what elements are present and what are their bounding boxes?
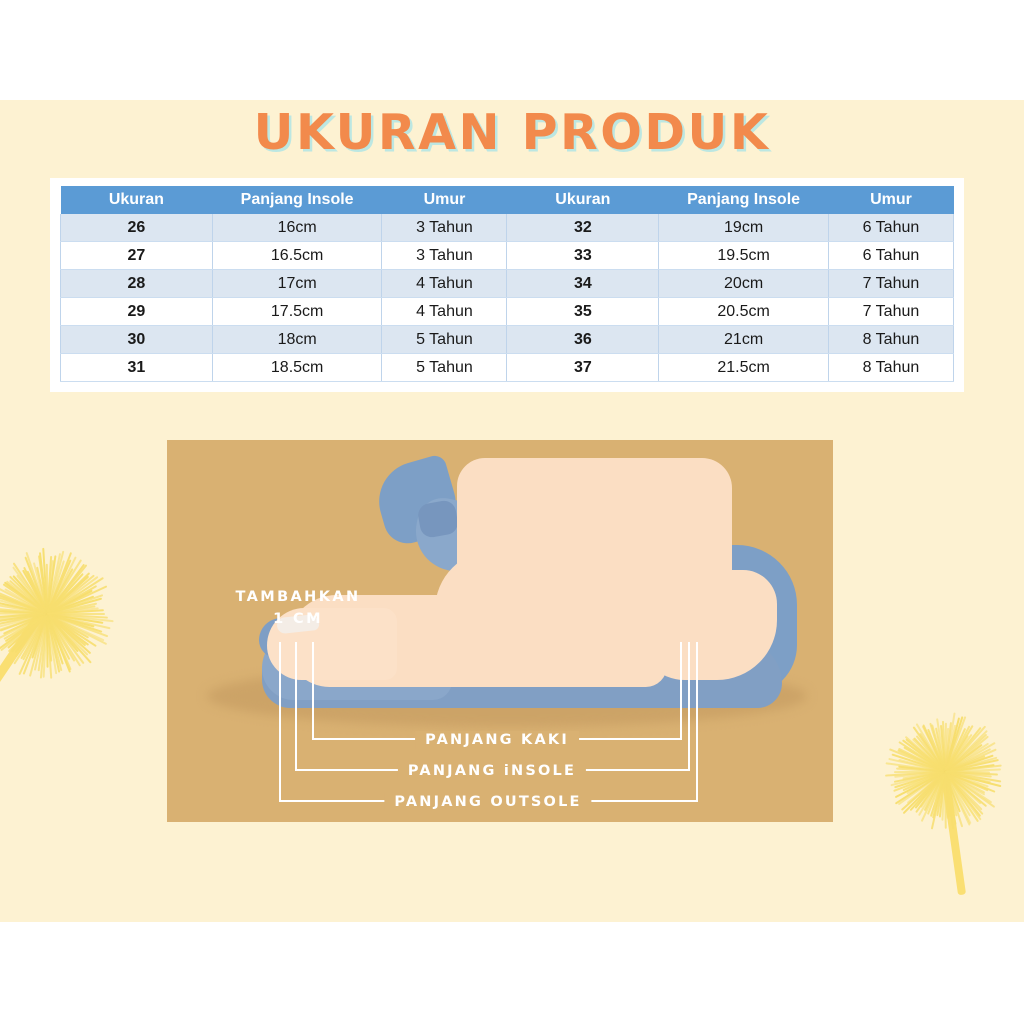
dandelion-ray xyxy=(47,613,108,618)
table-cell: 16.5cm xyxy=(212,242,382,270)
dandelion-ray xyxy=(944,716,966,772)
dandelion-ray xyxy=(0,613,47,622)
dandelion-ray xyxy=(13,575,48,614)
dandelion-ray xyxy=(922,724,946,772)
table-cell: 5 Tahun xyxy=(382,326,507,354)
dandelion-ray xyxy=(24,556,47,614)
dandelion-ray xyxy=(46,561,64,614)
dandelion-ray xyxy=(46,613,81,666)
dandelion-ray xyxy=(20,613,47,659)
dandelion-ray xyxy=(944,771,981,804)
dandelion-ray xyxy=(919,733,946,772)
table-row: 3118.5cm5 Tahun3721.5cm8 Tahun xyxy=(61,354,954,382)
dandelion-ray xyxy=(918,771,945,816)
dandelion-ray xyxy=(929,723,946,772)
dandelion-ray xyxy=(46,564,48,614)
dandelion-ray xyxy=(47,576,99,615)
dandelion-ray xyxy=(47,577,104,614)
dandelion-ray xyxy=(0,602,47,615)
dandelion-ray xyxy=(945,771,992,777)
table-cell: 16cm xyxy=(212,214,382,242)
dandelion-ray xyxy=(46,614,60,673)
dandelion-ray xyxy=(3,584,48,615)
dandelion-ray xyxy=(46,560,53,614)
dandelion-ray xyxy=(5,613,48,642)
page-title: UKURAN PRODUK xyxy=(0,104,1024,161)
dandelion-ray xyxy=(894,771,946,792)
table-cell: 18.5cm xyxy=(212,354,382,382)
dandelion-ray xyxy=(896,768,945,773)
dandelion-ray xyxy=(16,575,47,614)
dandelion-ray xyxy=(944,736,988,773)
dandelion-ray xyxy=(38,614,48,671)
dandelion-ray xyxy=(944,772,956,825)
dandelion-ray xyxy=(23,567,48,614)
dandelion-ray xyxy=(889,749,945,773)
table-cell: 21cm xyxy=(659,326,829,354)
dandelion-ray xyxy=(945,771,1002,782)
table-cell: 19.5cm xyxy=(659,242,829,270)
dandelion-ray xyxy=(940,725,946,772)
dandelion-ray xyxy=(47,594,103,614)
dandelion-ray xyxy=(944,772,963,828)
table-cell: 34 xyxy=(507,270,659,298)
label-tambahkan-1cm: TAMBAHKAN 1 CM xyxy=(208,586,388,630)
table-row: 2917.5cm4 Tahun3520.5cm7 Tahun xyxy=(61,298,954,326)
dandelion-ray xyxy=(944,734,972,773)
dandelion-ray xyxy=(920,771,945,808)
table-row: 2616cm3 Tahun3219cm6 Tahun xyxy=(61,214,954,242)
dandelion-ray xyxy=(47,613,90,638)
dandelion-ray xyxy=(0,588,47,614)
dandelion-ray xyxy=(891,771,945,786)
dandelion-ray xyxy=(902,771,945,780)
dandelion-ray xyxy=(885,771,945,777)
table-cell: 17.5cm xyxy=(212,298,382,326)
dandelion-ray xyxy=(47,596,94,615)
dandelion-ray xyxy=(944,771,979,822)
dandelion-ray xyxy=(944,771,971,816)
dandelion-ray xyxy=(895,771,946,788)
dandelion-ray xyxy=(937,772,946,816)
dandelion-ray xyxy=(944,723,946,772)
dandelion-ray xyxy=(47,605,96,614)
dandelion-ray xyxy=(0,613,47,651)
dandelion-ray xyxy=(942,772,946,821)
dandelion-ray xyxy=(893,771,945,783)
dandelion-ray xyxy=(944,728,949,772)
dandelion-ray xyxy=(944,771,982,810)
label-panjang-insole: PANJANG iNSOLE xyxy=(398,762,586,780)
dandelion-ray xyxy=(945,744,983,773)
dandelion-ray xyxy=(895,771,946,798)
dandelion-ray xyxy=(927,728,946,772)
dandelion-ray xyxy=(944,712,955,772)
dandelion-ray xyxy=(944,730,987,772)
dandelion-ray xyxy=(47,590,93,615)
size-table-card: Ukuran Panjang Insole Umur Ukuran Panjan… xyxy=(50,178,964,392)
column-header-panjang-insole-2: Panjang Insole xyxy=(659,186,829,214)
dandelion-ray xyxy=(906,771,945,794)
dandelion-ray xyxy=(8,613,47,652)
dandelion-ray xyxy=(905,739,945,773)
dandelion-ray xyxy=(944,772,950,817)
dandelion-ray xyxy=(46,575,94,615)
table-cell: 37 xyxy=(507,354,659,382)
dandelion-ray xyxy=(3,582,47,615)
table-cell: 8 Tahun xyxy=(828,326,953,354)
dandelion-ray xyxy=(944,771,971,826)
dandelion-ray xyxy=(945,742,996,773)
dandelion-ray xyxy=(944,771,981,817)
dandelion-ray xyxy=(945,755,986,772)
dandelion-ray xyxy=(944,772,954,830)
dandelion-ray xyxy=(0,591,47,615)
table-cell: 27 xyxy=(61,242,213,270)
dandelion-ray xyxy=(944,735,968,772)
dandelion-ray xyxy=(945,748,991,772)
dandelion-ray xyxy=(0,613,47,627)
dandelion-ray xyxy=(0,607,47,614)
dandelion-ray xyxy=(888,758,945,772)
dandelion-icon-left xyxy=(0,548,112,678)
dandelion-ray xyxy=(0,613,47,641)
dandelion-ray xyxy=(942,721,946,772)
dandelion-ray xyxy=(944,772,948,819)
dandelion-ray xyxy=(46,573,83,614)
dandelion-ray xyxy=(9,580,47,614)
table-cell: 20.5cm xyxy=(659,298,829,326)
table-cell: 3 Tahun xyxy=(382,242,507,270)
dandelion-ray xyxy=(930,772,946,818)
dandelion-ray xyxy=(944,734,986,773)
dandelion-ray xyxy=(895,771,945,804)
dandelion-ray xyxy=(46,560,71,615)
dandelion-ray xyxy=(0,596,47,615)
dandelion-ray xyxy=(46,564,84,614)
dandelion-ray xyxy=(46,613,88,655)
dandelion-ray xyxy=(38,555,48,614)
dandelion-ray xyxy=(0,613,47,628)
dandelion-ray xyxy=(0,613,47,615)
dandelion-ray xyxy=(902,740,945,773)
dandelion-ray xyxy=(916,736,946,773)
dandelion-ray xyxy=(944,771,971,824)
dandelion-ray xyxy=(47,597,103,614)
dandelion-ray xyxy=(0,587,47,615)
dandelion-ray xyxy=(46,613,70,660)
dandelion-ray xyxy=(46,614,52,661)
dandelion-ray xyxy=(46,575,89,614)
dandelion-ray xyxy=(944,722,951,772)
dandelion-ray xyxy=(46,614,71,673)
dandelion-ray xyxy=(47,613,109,637)
dandelion-ray xyxy=(945,765,1002,773)
dandelion-ray xyxy=(944,724,956,772)
dandelion-ray xyxy=(944,725,973,772)
dandelion-ray xyxy=(47,613,98,647)
dandelion-ray xyxy=(898,741,945,772)
dandelion-ray xyxy=(0,613,47,622)
dandelion-ray xyxy=(945,771,986,793)
dandelion-ray xyxy=(894,771,945,773)
dandelion-ray xyxy=(12,567,47,615)
dandelion-ray xyxy=(944,725,986,772)
dandelion-ray xyxy=(22,570,48,615)
dandelion-ray xyxy=(898,766,945,773)
dandelion-icon-right xyxy=(886,712,1004,830)
dandelion-ray xyxy=(9,576,48,615)
dandelion-ray xyxy=(40,614,48,679)
dandelion-ray xyxy=(42,548,48,614)
column-header-ukuran-1: Ukuran xyxy=(61,186,213,214)
dandelion-ray xyxy=(46,556,76,614)
dandelion-ray xyxy=(23,614,48,675)
dandelion-ray xyxy=(945,759,999,773)
dandelion-ray xyxy=(916,723,946,772)
dandelion-ray xyxy=(924,771,946,811)
dandelion-ray xyxy=(891,754,945,773)
table-cell: 30 xyxy=(61,326,213,354)
dandelion-ray xyxy=(939,772,946,818)
dandelion-ray xyxy=(921,771,946,822)
label-panjang-kaki: PANJANG KAKI xyxy=(415,731,579,749)
dandelion-ray xyxy=(898,771,945,805)
table-cell: 28 xyxy=(61,270,213,298)
table-cell: 29 xyxy=(61,298,213,326)
dandelion-ray xyxy=(944,772,961,813)
dandelion-ray xyxy=(944,727,981,772)
dandelion-ray xyxy=(43,614,48,678)
column-header-umur-2: Umur xyxy=(828,186,953,214)
table-cell: 7 Tahun xyxy=(828,270,953,298)
table-cell: 6 Tahun xyxy=(828,242,953,270)
dandelion-ray xyxy=(913,727,946,773)
dandelion-ray xyxy=(945,771,995,807)
dandelion-ray xyxy=(13,563,48,614)
dandelion-ray xyxy=(8,613,48,648)
dandelion-ray xyxy=(46,553,60,614)
dandelion-ray xyxy=(944,772,947,829)
dandelion-ray xyxy=(46,564,87,614)
dandelion-ray xyxy=(46,559,82,614)
dandelion-ray xyxy=(47,613,105,615)
table-cell: 7 Tahun xyxy=(828,298,953,326)
table-cell: 18cm xyxy=(212,326,382,354)
column-header-umur-1: Umur xyxy=(382,186,507,214)
table-cell: 32 xyxy=(507,214,659,242)
table-cell: 20cm xyxy=(659,270,829,298)
table-cell: 36 xyxy=(507,326,659,354)
dandelion-ray xyxy=(47,613,90,645)
dandelion-ray xyxy=(945,771,996,792)
dandelion-ray xyxy=(945,771,991,783)
dandelion-ray xyxy=(904,747,946,773)
table-row: 2716.5cm3 Tahun3319.5cm6 Tahun xyxy=(61,242,954,270)
dandelion-ray xyxy=(907,771,945,803)
dandelion-ray xyxy=(944,717,959,772)
dandelion-ray xyxy=(4,588,47,614)
dandelion-ray xyxy=(912,739,945,772)
dandelion-ray xyxy=(905,736,946,772)
dandelion-ray xyxy=(47,613,103,623)
dandelion-ray xyxy=(46,614,64,665)
table-cell: 17cm xyxy=(212,270,382,298)
dandelion-ray xyxy=(6,581,48,615)
dandelion-ray xyxy=(945,771,986,795)
dandelion-ray xyxy=(0,613,47,632)
dandelion-ray xyxy=(944,772,957,817)
dandelion-ray xyxy=(47,613,95,627)
dandelion-ray xyxy=(46,555,56,614)
dandelion-ray xyxy=(46,613,86,646)
dandelion-ray xyxy=(945,771,990,773)
dandelion-ray xyxy=(46,614,62,671)
size-table-body: 2616cm3 Tahun3219cm6 Tahun2716.5cm3 Tahu… xyxy=(61,214,954,382)
dandelion-ray xyxy=(34,614,47,671)
dandelion-ray xyxy=(13,613,47,665)
dandelion-stem xyxy=(940,765,966,895)
dandelion-ray xyxy=(46,614,57,674)
dandelion-ray xyxy=(945,748,997,772)
dandelion-ray xyxy=(944,771,982,820)
dandelion-ray xyxy=(935,728,946,772)
dandelion-ray xyxy=(15,613,48,653)
dandelion-ray xyxy=(23,613,48,660)
dandelion-ray xyxy=(47,609,104,614)
dandelion-ray xyxy=(47,613,114,622)
dandelion-ray xyxy=(901,771,946,811)
dandelion-ray xyxy=(46,613,75,661)
dandelion-ray xyxy=(0,610,47,614)
dandelion-ray xyxy=(46,572,89,614)
dandelion-ray xyxy=(913,737,946,772)
dandelion-ray xyxy=(39,552,48,613)
dandelion-ray xyxy=(922,725,946,772)
dandelion-ray xyxy=(46,556,52,614)
dandelion-ray xyxy=(945,771,989,787)
dandelion-ray xyxy=(25,552,47,615)
table-cell: 26 xyxy=(61,214,213,242)
dandelion-ray xyxy=(27,571,48,614)
dandelion-ray xyxy=(46,613,84,664)
dandelion-ray xyxy=(944,728,965,772)
dandelion-burst xyxy=(886,712,1004,830)
dandelion-ray xyxy=(0,613,47,653)
dandelion-ray xyxy=(47,613,110,629)
column-header-panjang-insole-1: Panjang Insole xyxy=(212,186,382,214)
dandelion-ray xyxy=(898,748,945,772)
dandelion-ray xyxy=(47,613,102,632)
dandelion-ray xyxy=(29,614,47,677)
dandelion-burst xyxy=(0,548,112,678)
dandelion-ray xyxy=(47,613,108,645)
dandelion-ray xyxy=(898,750,946,773)
table-cell: 19cm xyxy=(659,214,829,242)
dandelion-ray xyxy=(0,613,47,618)
dandelion-ray xyxy=(4,613,48,640)
dandelion-ray xyxy=(47,585,98,615)
dandelion-ray xyxy=(32,614,48,660)
table-cell: 3 Tahun xyxy=(382,214,507,242)
dandelion-ray xyxy=(945,768,1001,772)
dandelion-ray xyxy=(46,613,71,670)
dandelion-ray xyxy=(931,724,946,772)
table-cell: 5 Tahun xyxy=(382,354,507,382)
dandelion-ray xyxy=(945,771,993,803)
table-row: 2817cm4 Tahun3420cm7 Tahun xyxy=(61,270,954,298)
dandelion-ray xyxy=(885,763,945,773)
table-cell: 8 Tahun xyxy=(828,354,953,382)
table-cell: 31 xyxy=(61,354,213,382)
table-cell: 21.5cm xyxy=(659,354,829,382)
dandelion-ray xyxy=(46,568,73,614)
dandelion-ray xyxy=(4,613,48,634)
dandelion-ray xyxy=(903,771,946,814)
dandelion-ray xyxy=(945,764,995,773)
dandelion-ray xyxy=(915,771,946,809)
dandelion-ray xyxy=(0,613,47,634)
table-cell: 4 Tahun xyxy=(382,270,507,298)
dandelion-ray xyxy=(931,772,946,830)
dandelion-ray xyxy=(15,613,47,657)
table-header-row: Ukuran Panjang Insole Umur Ukuran Panjan… xyxy=(61,186,954,214)
product-size-chart-page: UKURAN PRODUK Ukuran Panjang Insole Umur… xyxy=(0,0,1024,1024)
dandelion-ray xyxy=(945,742,989,772)
dandelion-ray xyxy=(0,597,47,614)
dandelion-ray xyxy=(46,614,52,679)
dandelion-ray xyxy=(46,613,78,652)
dandelion-ray xyxy=(46,552,72,614)
dandelion-ray xyxy=(47,585,107,614)
size-table: Ukuran Panjang Insole Umur Ukuran Panjan… xyxy=(60,186,954,382)
dandelion-ray xyxy=(19,613,48,675)
dandelion-ray xyxy=(11,613,47,652)
dandelion-ray xyxy=(894,771,945,778)
dandelion-ray xyxy=(936,718,946,772)
dandelion-ray xyxy=(945,757,998,773)
dandelion-ray xyxy=(46,614,48,668)
table-cell: 6 Tahun xyxy=(828,214,953,242)
dandelion-ray xyxy=(47,613,104,641)
table-cell: 35 xyxy=(507,298,659,326)
dandelion-ray xyxy=(945,755,994,773)
dandelion-ray xyxy=(36,567,48,614)
dandelion-ray xyxy=(945,771,998,775)
dandelion-ray xyxy=(945,771,1002,787)
dandelion-stem xyxy=(0,605,48,718)
dandelion-ray xyxy=(0,602,47,615)
dandelion-ray xyxy=(903,771,946,791)
table-cell: 33 xyxy=(507,242,659,270)
foot-measurement-diagram: PANJANG KAKI PANJANG iNSOLE PANJANG OUTS… xyxy=(167,440,833,822)
dandelion-ray xyxy=(46,551,64,614)
column-header-ukuran-2: Ukuran xyxy=(507,186,659,214)
dandelion-ray xyxy=(46,613,91,654)
dandelion-ray xyxy=(944,771,986,806)
dandelion-ray xyxy=(944,726,970,773)
dandelion-ray xyxy=(910,771,946,811)
dandelion-ray xyxy=(945,771,989,791)
dandelion-ray xyxy=(944,771,983,814)
table-cell: 4 Tahun xyxy=(382,298,507,326)
label-panjang-outsole: PANJANG OUTSOLE xyxy=(384,793,591,811)
dandelion-ray xyxy=(899,759,946,772)
dandelion-ray xyxy=(932,772,945,819)
dandelion-ray xyxy=(47,607,99,614)
dandelion-ray xyxy=(33,563,48,614)
dandelion-ray xyxy=(46,613,91,663)
